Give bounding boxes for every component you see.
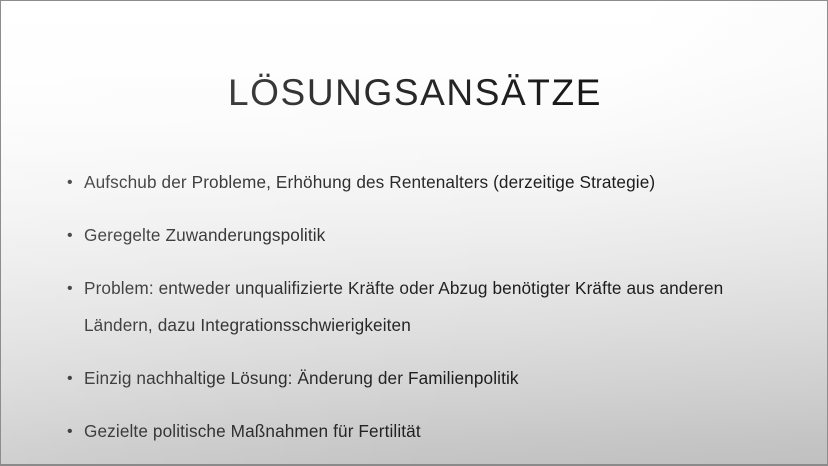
bullet-list: • Aufschub der Probleme, Erhöhung des Re… [63,164,763,450]
bullet-point-icon: • [67,360,73,397]
list-item: • Problem: entweder unqualifizierte Kräf… [63,270,763,344]
bullet-point-icon: • [67,413,73,450]
list-item-label: Geregelte Zuwanderungspolitik [84,217,763,254]
list-item: • Gezielte politische Maßnahmen für Fert… [63,413,763,450]
list-item: • Einzig nachhaltige Lösung: Änderung de… [63,360,763,397]
list-item-label: Problem: entweder unqualifizierte Kräfte… [84,270,732,344]
presentation-slide: LÖSUNGSANSÄTZE • Aufschub der Probleme, … [0,0,828,466]
bullet-point-icon: • [67,217,73,254]
bullet-point-icon: • [67,164,73,201]
list-item-label: Aufschub der Probleme, Erhöhung des Rent… [84,164,763,201]
list-item-label: Gezielte politische Maßnahmen für Fertil… [84,413,763,450]
list-item-label: Einzig nachhaltige Lösung: Änderung der … [84,360,763,397]
slide-title: LÖSUNGSANSÄTZE [1,71,828,115]
bullet-point-icon: • [67,270,73,307]
list-item: • Aufschub der Probleme, Erhöhung des Re… [63,164,763,201]
list-item: • Geregelte Zuwanderungspolitik [63,217,763,254]
